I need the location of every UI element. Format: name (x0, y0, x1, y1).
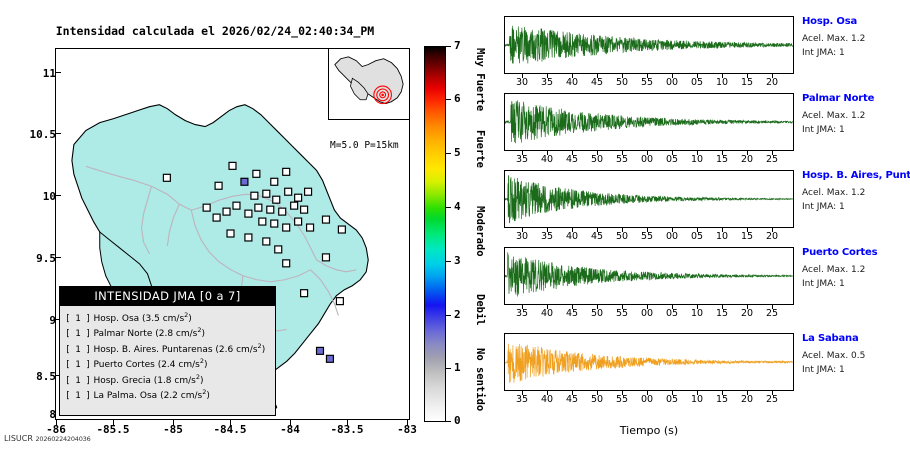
waveform-tick-label: 40 (535, 308, 559, 319)
inset-map-graphic (329, 49, 409, 119)
waveform-tick-label: 50 (585, 308, 609, 319)
legend-station: Hosp. Grecia (93, 376, 150, 386)
waveform-tick-label: 40 (560, 77, 584, 88)
waveform-tick-label: 45 (585, 77, 609, 88)
waveform-tick-label: 20 (735, 394, 759, 405)
station-intensity: Int JMA: 1 (802, 202, 910, 212)
waveform-plot[interactable] (504, 170, 794, 228)
map-x-tick (113, 420, 114, 426)
waveform-tick-label: 20 (735, 308, 759, 319)
station-intensity: Int JMA: 1 (802, 48, 910, 58)
legend-station: La Palma. Osa (93, 391, 157, 401)
waveform-plot[interactable] (504, 93, 794, 151)
waveform-tick-label: 35 (535, 77, 559, 88)
waveform-tick-label: 00 (635, 308, 659, 319)
waveform-tick-label: 25 (760, 394, 784, 405)
waveform-tick-label: 15 (710, 154, 734, 165)
waveform-tick-label: 10 (685, 308, 709, 319)
waveform-tick-label: 50 (585, 154, 609, 165)
watermark-timestamp: 20260224204036 (35, 435, 90, 443)
legend-count: [ 1 ] (65, 345, 91, 355)
waveform-tick-label: 05 (685, 77, 709, 88)
inset-locator-map[interactable] (328, 48, 410, 120)
legend-value: 2.4 cm/s (161, 360, 200, 370)
map-x-tick (56, 420, 57, 426)
page-title: Intensidad calculada el 2026/02/24_02:40… (0, 24, 430, 38)
colorbar-tick (446, 421, 451, 422)
map-y-tick-label: 9.5 (10, 252, 56, 265)
waveform-tick-label: 45 (585, 231, 609, 242)
waveform-tick-label: 50 (610, 77, 634, 88)
legend-station: Palmar Norte (93, 329, 152, 339)
waveform-tick-label: 35 (535, 231, 559, 242)
waveform-info: Puerto Cortes Acel. Max. 1.2 Int JMA: 1 (802, 247, 910, 289)
waveform-tick-label: 10 (685, 394, 709, 405)
waveform-trace (505, 94, 793, 150)
station-intensity: Int JMA: 1 (802, 279, 910, 289)
waveform-tick-label: 35 (510, 154, 534, 165)
map-y-tick-label: 8 (10, 408, 56, 421)
waveform-plot[interactable] (504, 333, 794, 391)
map-y-tick (55, 133, 61, 134)
waveform-info: Hosp. Osa Acel. Max. 1.2 Int JMA: 1 (802, 16, 910, 58)
colorbar-category: Fuerte (474, 130, 486, 168)
waveform-tick-label: 40 (535, 154, 559, 165)
waveform-tick-label: 40 (535, 394, 559, 405)
waveform-tick-label: 50 (610, 231, 634, 242)
legend-count: [ 1 ] (65, 329, 91, 339)
legend-station-list: [ 1 ] Hosp. Osa (3.5 cm/s2) [ 1 ] Palmar… (60, 306, 275, 402)
waveform-tick-label: 25 (760, 154, 784, 165)
colorbar-value: 0 (454, 414, 461, 427)
waveform-tick-label: 15 (710, 308, 734, 319)
station-accel: Acel. Max. 0.5 (802, 351, 910, 361)
legend-value: 2.8 cm/s (159, 329, 198, 339)
colorbar-tick (446, 368, 451, 369)
colorbar-category: Muy Fuerte (474, 48, 486, 111)
waveform-tick-label: 35 (510, 394, 534, 405)
waveform-tick-label: 45 (560, 308, 584, 319)
waveform-tick-label: 25 (760, 308, 784, 319)
station-name: Puerto Cortes (802, 247, 910, 258)
time-axis-label: Tiempo (s) (504, 424, 794, 437)
waveform-tick-label: 30 (510, 77, 534, 88)
colorbar-value: 6 (454, 92, 461, 105)
map-panel: Intensidad calculada el 2026/02/24_02:40… (0, 0, 470, 460)
map-x-tick (230, 420, 231, 426)
colorbar-value: 7 (454, 39, 461, 52)
legend-row: [ 1 ] Hosp. B. Aires. Puntarenas (2.6 cm… (65, 341, 275, 356)
waveform-tick-label: 30 (510, 231, 534, 242)
colorbar-value: 1 (454, 361, 461, 374)
map-y-tick-label: 8.5 (10, 370, 56, 383)
waveform-tick-label: 55 (610, 154, 634, 165)
map-y-tick-label: 11 (10, 67, 56, 80)
legend-station: Hosp. Osa (93, 314, 139, 324)
waveform-tick-label: 00 (660, 77, 684, 88)
station-accel: Acel. Max. 1.2 (802, 188, 910, 198)
waveform-tick-label: 55 (635, 231, 659, 242)
waveform-tick-label: 20 (760, 231, 784, 242)
waveform-tick-label: 20 (735, 154, 759, 165)
legend-value: 3.5 cm/s (146, 314, 185, 324)
waveform-tick-label: 55 (635, 77, 659, 88)
waveform-trace (505, 171, 793, 227)
colorbar-value: 2 (454, 308, 461, 321)
colorbar-tick (446, 153, 451, 154)
map-x-tick (290, 420, 291, 426)
station-accel: Acel. Max. 1.2 (802, 265, 910, 275)
waveform-trace (505, 17, 793, 73)
waveform-tick-label: 20 (760, 77, 784, 88)
waveform-tick-label: 50 (585, 394, 609, 405)
colorbar-tick (446, 46, 451, 47)
legend-station: Puerto Cortes (93, 360, 154, 370)
waveform-info: Hosp. B. Aires, Puntare Acel. Max. 1.2 I… (802, 170, 910, 212)
waveform-tick-label: 55 (610, 308, 634, 319)
waveform-tick-label: 05 (685, 231, 709, 242)
waveform-plot[interactable] (504, 16, 794, 74)
map-x-tick (173, 420, 174, 426)
colorbar-tick (446, 261, 451, 262)
map-y-tick (55, 72, 61, 73)
waveform-panel-group: 30 35 40 45 50 55 00 05 10 15 20 Hosp. O… (500, 0, 910, 460)
legend-count: [ 1 ] (65, 391, 91, 401)
colorbar-value: 4 (454, 200, 461, 213)
colorbar-tick (446, 207, 451, 208)
watermark: LISUCR 20260224204036 (4, 434, 91, 443)
waveform-tick-label: 15 (735, 231, 759, 242)
waveform-tick-label: 00 (635, 394, 659, 405)
waveform-trace (505, 334, 793, 390)
waveform-tick-label: 10 (710, 231, 734, 242)
map-y-tick-label: 10 (10, 190, 56, 203)
legend-row: [ 1 ] Hosp. Grecia (1.8 cm/s2) (65, 372, 275, 387)
map-x-tick (407, 420, 408, 426)
colorbar-gradient (424, 46, 446, 422)
waveform-tick-label: 55 (610, 394, 634, 405)
watermark-org: LISUCR (4, 434, 33, 443)
map-y-tick (55, 195, 61, 196)
station-intensity: Int JMA: 1 (802, 125, 910, 135)
station-name: Palmar Norte (802, 93, 910, 104)
colorbar-value: 5 (454, 146, 461, 159)
station-intensity: Int JMA: 1 (802, 365, 910, 375)
colorbar-category: No sentido (474, 348, 486, 411)
waveform-tick-label: 05 (660, 154, 684, 165)
colorbar-tick (446, 315, 451, 316)
legend-row: [ 1 ] La Palma. Osa (2.2 cm/s2) (65, 387, 275, 402)
waveform-tick-label: 15 (710, 394, 734, 405)
legend-row: [ 1 ] Hosp. Osa (3.5 cm/s2) (65, 310, 275, 325)
waveform-tick-label: 10 (685, 154, 709, 165)
waveform-tick-label: 05 (660, 394, 684, 405)
magnitude-depth-annotation: M=5.0 P=15km (330, 140, 399, 151)
map-y-tick (55, 257, 61, 258)
waveform-tick-label: 00 (635, 154, 659, 165)
map-y-tick-label: 10.5 (10, 128, 56, 141)
station-accel: Acel. Max. 1.2 (802, 111, 910, 121)
legend-row: [ 1 ] Palmar Norte (2.8 cm/s2) (65, 325, 275, 340)
station-name: Hosp. Osa (802, 16, 910, 27)
waveform-info: La Sabana Acel. Max. 0.5 Int JMA: 1 (802, 333, 910, 375)
intensity-colorbar: 7 6 5 4 3 2 1 0 Muy Fuerte Fuerte Modera… (424, 46, 494, 422)
legend-station: Hosp. B. Aires. Puntarenas (93, 345, 212, 355)
waveform-tick-label: 40 (560, 231, 584, 242)
waveform-tick-label: 45 (560, 154, 584, 165)
map-x-tick (347, 420, 348, 426)
waveform-trace (505, 248, 793, 304)
legend-count: [ 1 ] (65, 376, 91, 386)
colorbar-category: Debil (474, 294, 486, 326)
waveform-tick-label: 45 (560, 394, 584, 405)
station-accel: Acel. Max. 1.2 (802, 34, 910, 44)
legend-value: 2.2 cm/s (164, 391, 203, 401)
station-name: La Sabana (802, 333, 910, 344)
map-y-tick-label: 9 (10, 314, 56, 327)
waveform-tick-label: 15 (735, 77, 759, 88)
intensity-legend: INTENSIDAD JMA [0 a 7] [ 1 ] Hosp. Osa (… (59, 286, 276, 416)
legend-value: 1.8 cm/s (157, 376, 196, 386)
legend-count: [ 1 ] (65, 360, 91, 370)
colorbar-tick (446, 99, 451, 100)
waveform-tick-label: 05 (660, 308, 684, 319)
waveform-tick-label: 10 (710, 77, 734, 88)
station-name: Hosp. B. Aires, Puntare (802, 170, 910, 181)
waveform-info: Palmar Norte Acel. Max. 1.2 Int JMA: 1 (802, 93, 910, 135)
legend-title: INTENSIDAD JMA [0 a 7] (60, 287, 275, 306)
waveform-tick-label: 35 (510, 308, 534, 319)
legend-row: [ 1 ] Puerto Cortes (2.4 cm/s2) (65, 356, 275, 371)
legend-count: [ 1 ] (65, 314, 91, 324)
colorbar-category: Moderado (474, 206, 486, 257)
colorbar-value: 3 (454, 254, 461, 267)
waveform-tick-label: 00 (660, 231, 684, 242)
legend-value: 2.6 cm/s (219, 345, 258, 355)
waveform-plot[interactable] (504, 247, 794, 305)
